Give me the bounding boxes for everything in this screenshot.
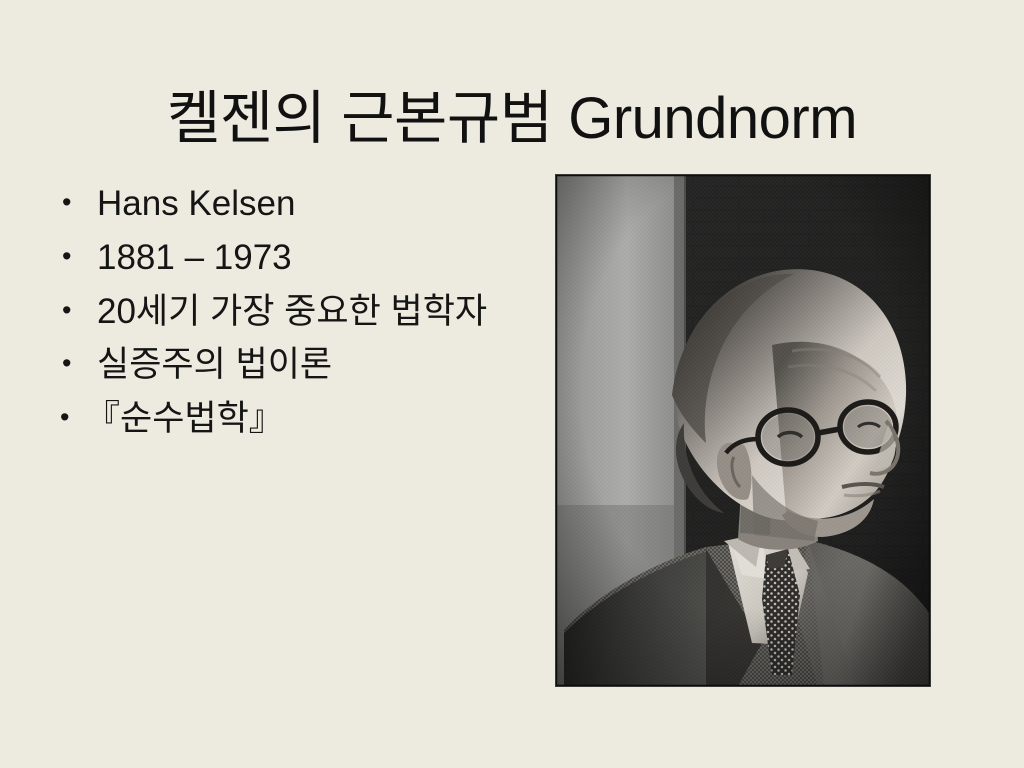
portrait-photo: 한스 켈젠 흑백 초상 사진 (556, 175, 930, 686)
list-item: 실증주의 법이론 (52, 343, 504, 388)
list-item: 1881 – 1973 (52, 236, 504, 281)
slide: 켈젠의 근본규범 Grundnorm Hans Kelsen 1881 – 19… (0, 0, 1024, 768)
bullet-list: Hans Kelsen 1881 – 1973 20세기 가장 중요한 법학자 … (52, 182, 504, 451)
page-title: 켈젠의 근본규범 Grundnorm (60, 87, 964, 151)
list-item: 20세기 가장 중요한 법학자 (52, 290, 504, 335)
list-item: 『순수법학』 (52, 397, 504, 442)
list-item: Hans Kelsen (52, 182, 504, 227)
